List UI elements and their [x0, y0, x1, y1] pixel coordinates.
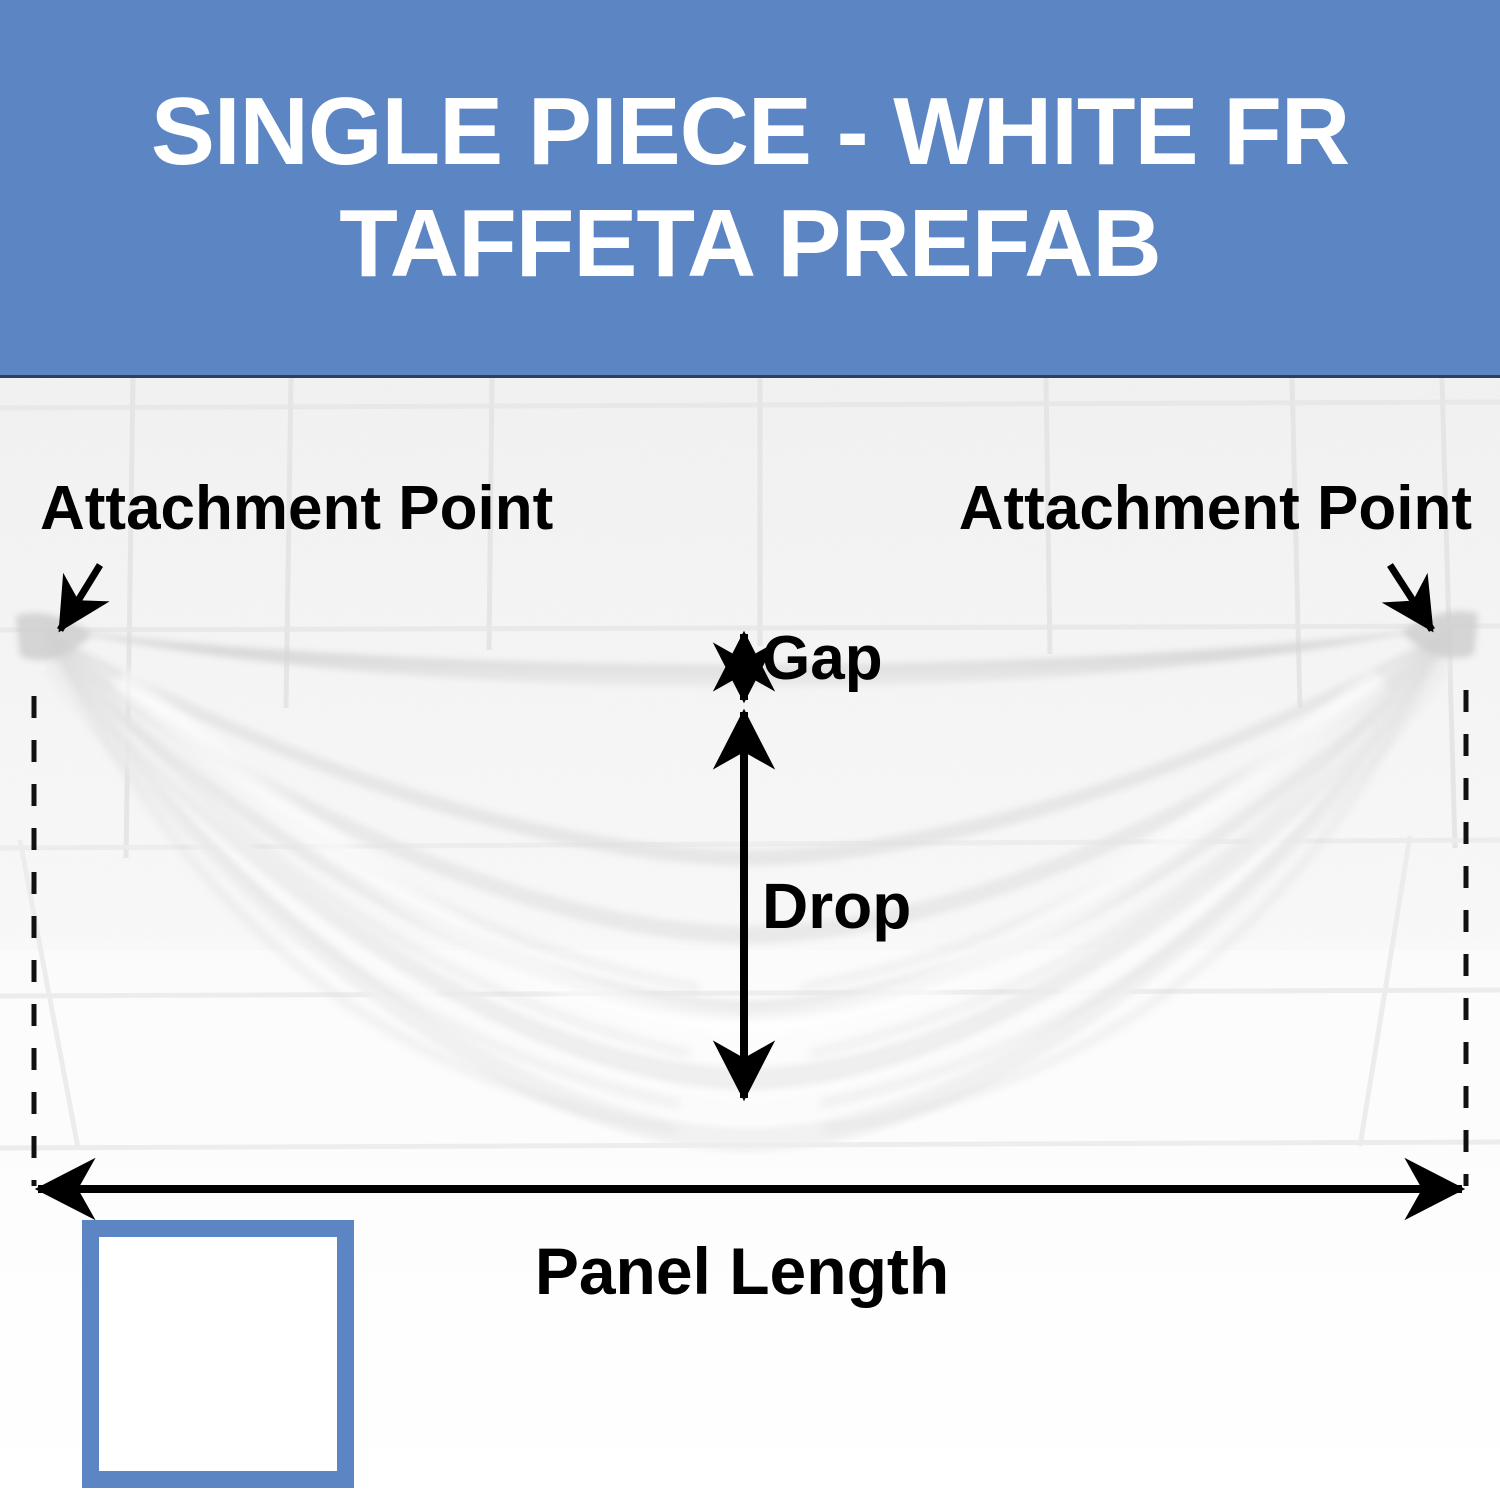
white-fabric-color-swatch: [82, 1220, 354, 1488]
header-title-line-1: SINGLE PIECE - WHITE FR: [151, 76, 1349, 188]
header-title-line-2: TAFFETA PREFAB: [339, 188, 1161, 300]
product-diagram-page: SINGLE PIECE - WHITE FR TAFFETA PREFAB: [0, 0, 1500, 1500]
header-banner: SINGLE PIECE - WHITE FR TAFFETA PREFAB: [0, 0, 1500, 378]
